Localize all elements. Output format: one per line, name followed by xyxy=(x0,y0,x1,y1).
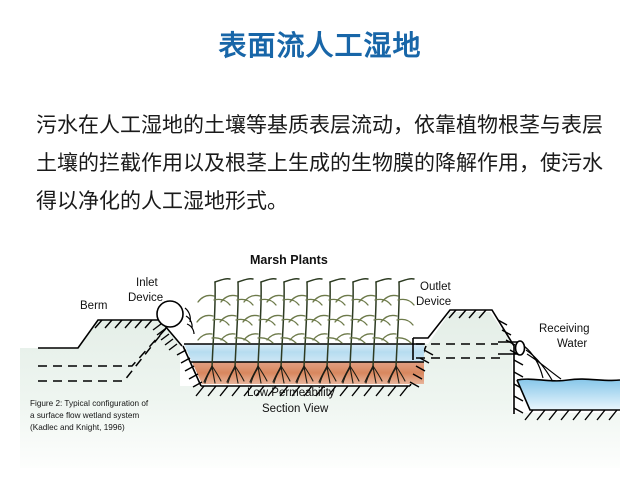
caption-line-2: a surface flow wetland system xyxy=(30,411,139,420)
label-section-view: Section View xyxy=(262,403,329,415)
label-receiving-water-line1: Receiving xyxy=(539,323,590,335)
label-receiving-water-line2: Water xyxy=(557,338,587,350)
label-berm: Berm xyxy=(80,300,107,312)
page-title: 表面流人工湿地 xyxy=(0,26,640,66)
label-marsh-plants: Marsh Plants xyxy=(250,253,328,267)
discharge-flow xyxy=(524,346,561,380)
caption-line-1: Figure 2: Typical configuration of xyxy=(30,399,149,408)
wetland-diagram: Marsh Plants Inlet Device Berm Outlet De… xyxy=(20,238,620,468)
label-inlet-device-line2: Device xyxy=(128,292,163,304)
label-low-permeability-line1: Low Permeability xyxy=(247,387,335,399)
body-paragraph: 污水在人工湿地的土壤等基质表层流动，依靠植物根茎与表层土壤的拦截作用以及根茎上生… xyxy=(36,107,606,221)
label-outlet-device-line1: Outlet xyxy=(420,281,451,293)
wetland-diagram-svg: Marsh Plants Inlet Device Berm Outlet De… xyxy=(20,238,620,468)
label-outlet-device-line2: Device xyxy=(416,296,451,308)
label-inlet-device-line1: Inlet xyxy=(136,277,159,289)
caption-line-3: (Kadlec and Knight, 1996) xyxy=(30,423,125,432)
